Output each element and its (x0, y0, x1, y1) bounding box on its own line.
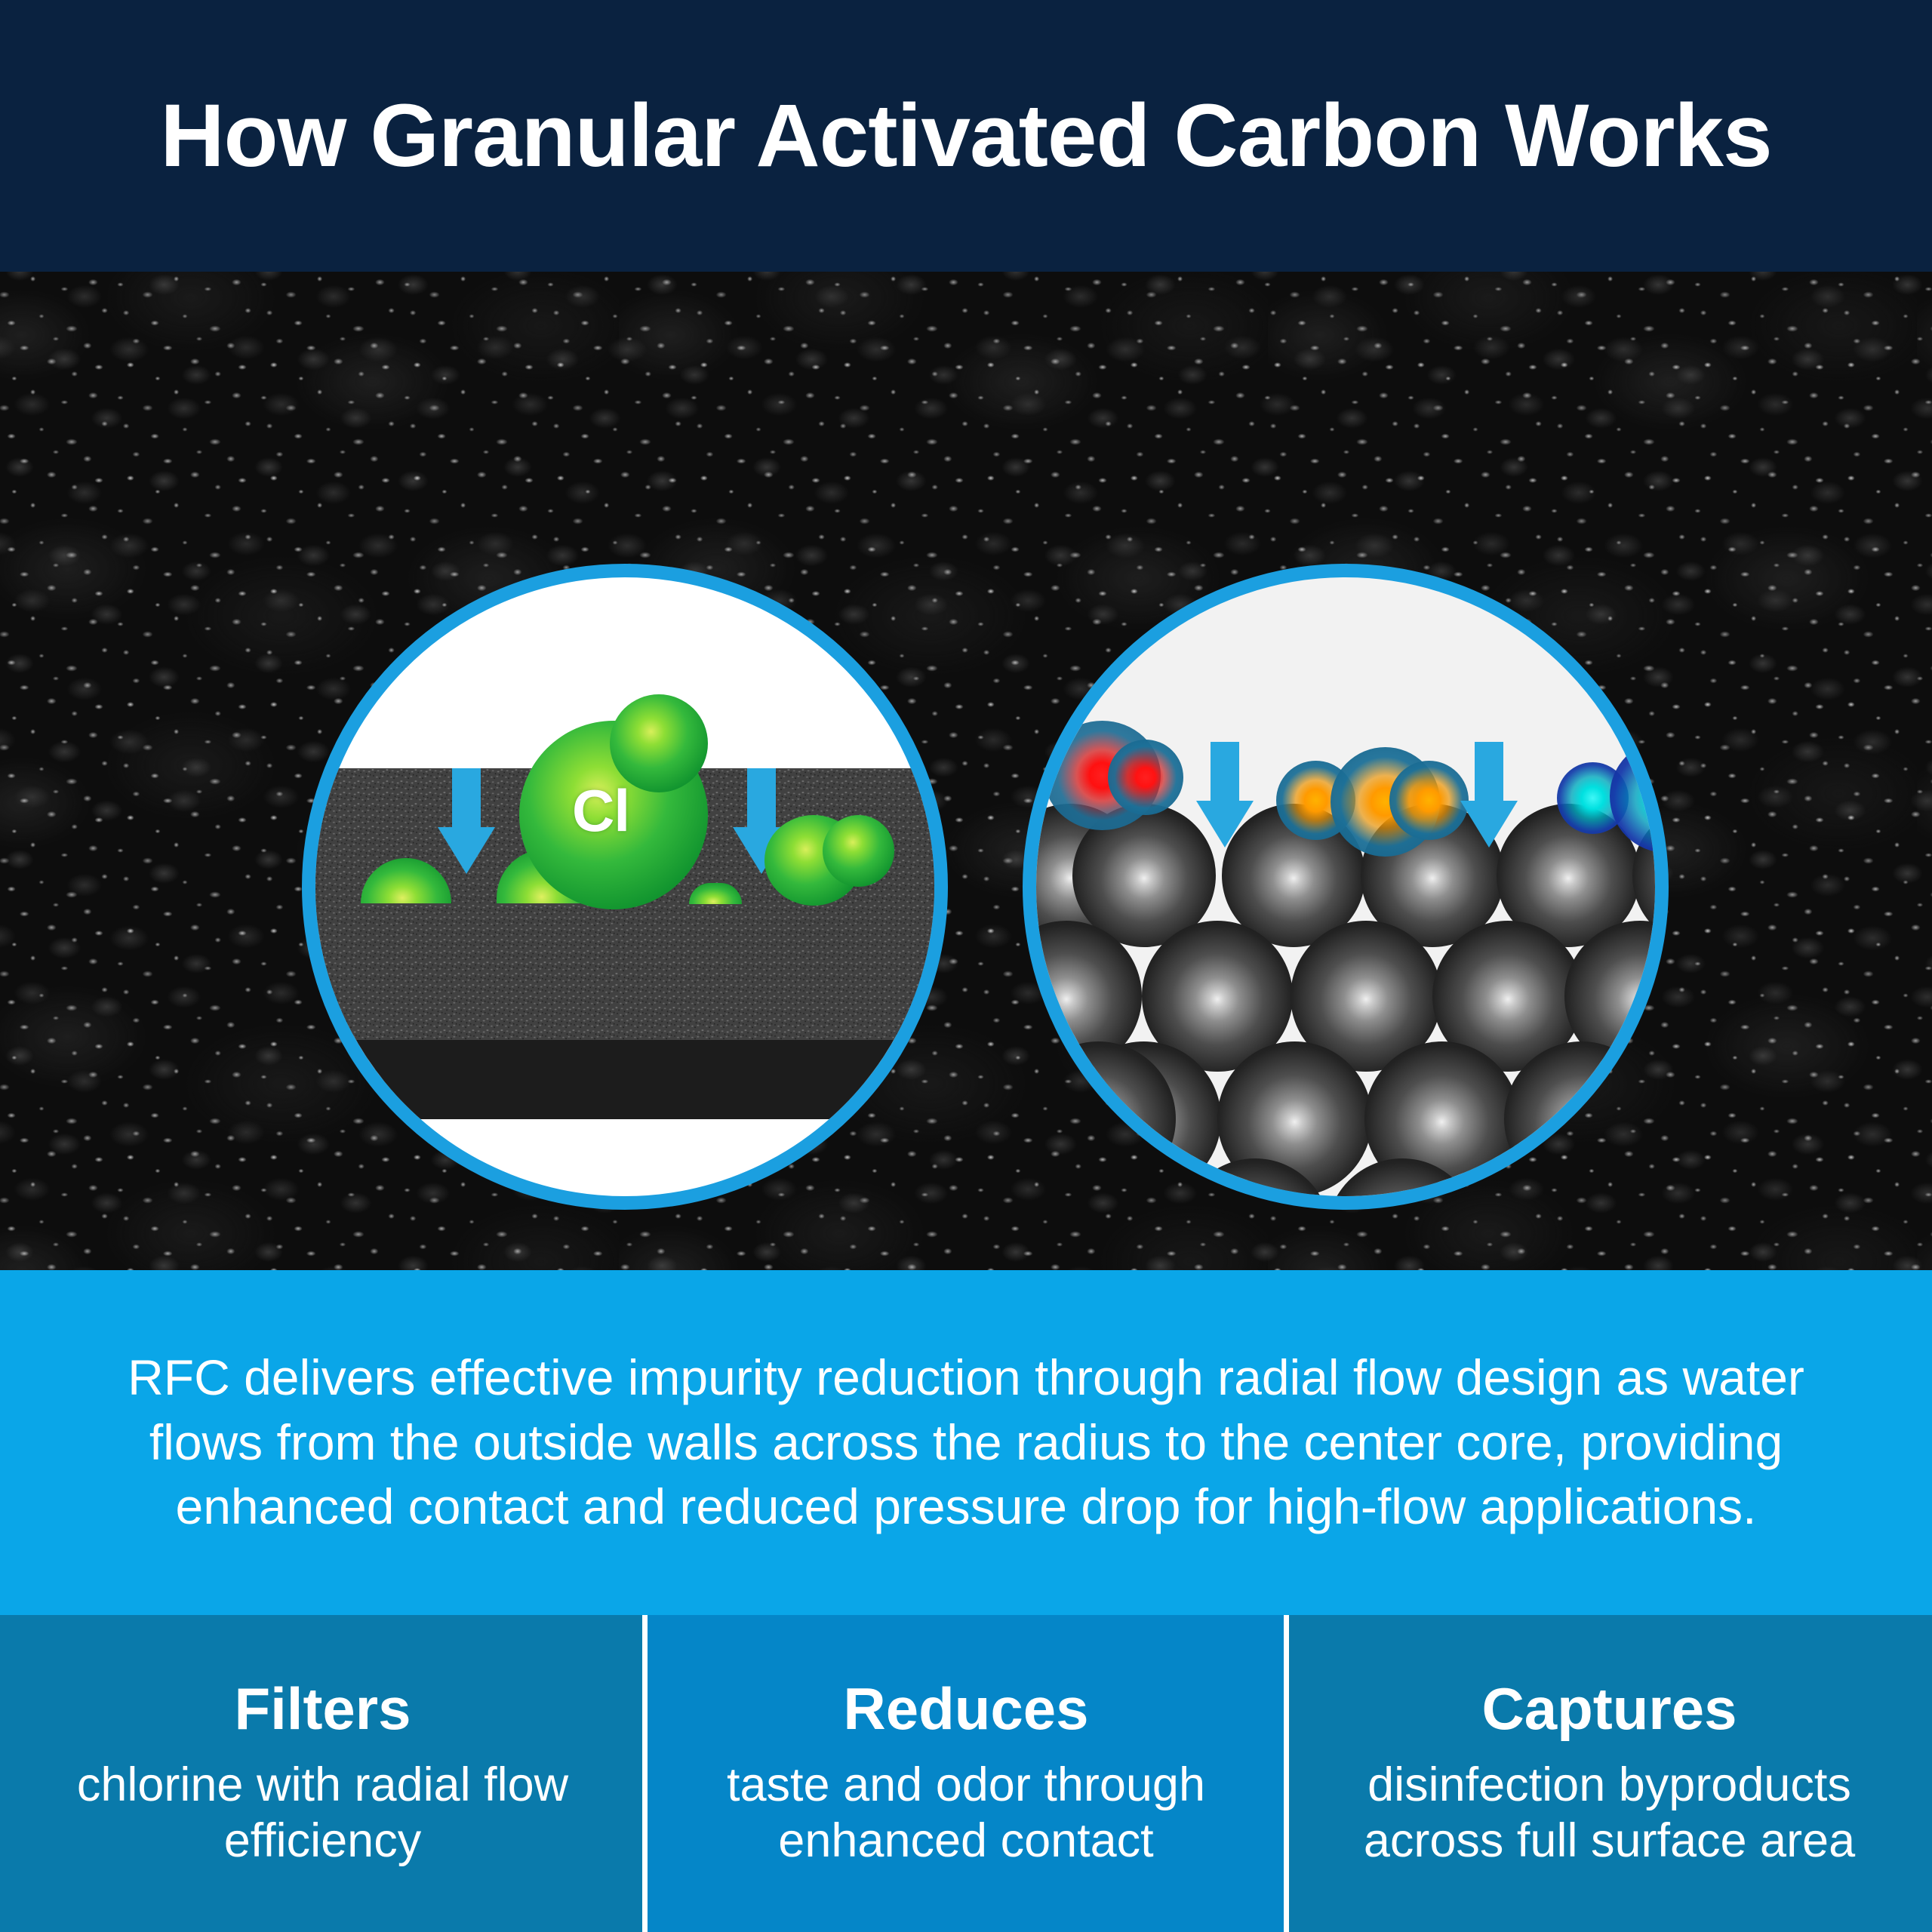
feature-body: taste and odor through enhanced contact (659, 1757, 1273, 1869)
feature-body: chlorine with radial flow efficiency (14, 1757, 632, 1869)
carbon-granule (1023, 1041, 1176, 1196)
carbon-core-layer (302, 1040, 948, 1119)
column-divider (1284, 1615, 1289, 1932)
chlorine-molecule (823, 815, 894, 887)
feature-column-filters[interactable]: Filters chlorine with radial flow effici… (0, 1615, 645, 1932)
feature-column-captures[interactable]: Captures disinfection byproducts across … (1287, 1615, 1932, 1932)
infographic-root: How Granular Activated Carbon Works (0, 0, 1932, 1932)
description-text: RFC delivers effective impurity reductio… (87, 1346, 1845, 1540)
header-bar: How Granular Activated Carbon Works (0, 0, 1932, 272)
description-band: RFC delivers effective impurity reductio… (0, 1270, 1932, 1615)
callout-granule-packing (1023, 564, 1669, 1210)
chlorine-label: Cl (572, 781, 629, 840)
feature-body: disinfection byproducts across full surf… (1300, 1757, 1918, 1869)
feature-heading: Filters (234, 1678, 411, 1740)
callout-chlorine-adsorption: Cl (302, 564, 948, 1210)
page-title: How Granular Activated Carbon Works (160, 91, 1771, 180)
column-divider (642, 1615, 648, 1932)
feature-column-reduces[interactable]: Reduces taste and odor through enhanced … (645, 1615, 1287, 1932)
feature-heading: Captures (1481, 1678, 1737, 1740)
feature-footer: Filters chlorine with radial flow effici… (0, 1615, 1932, 1932)
feature-heading: Reduces (843, 1678, 1088, 1740)
contaminant-molecule-orange (1389, 761, 1469, 840)
contaminant-molecule-red (1108, 740, 1183, 815)
hero-illustration: Cl (0, 272, 1932, 1270)
